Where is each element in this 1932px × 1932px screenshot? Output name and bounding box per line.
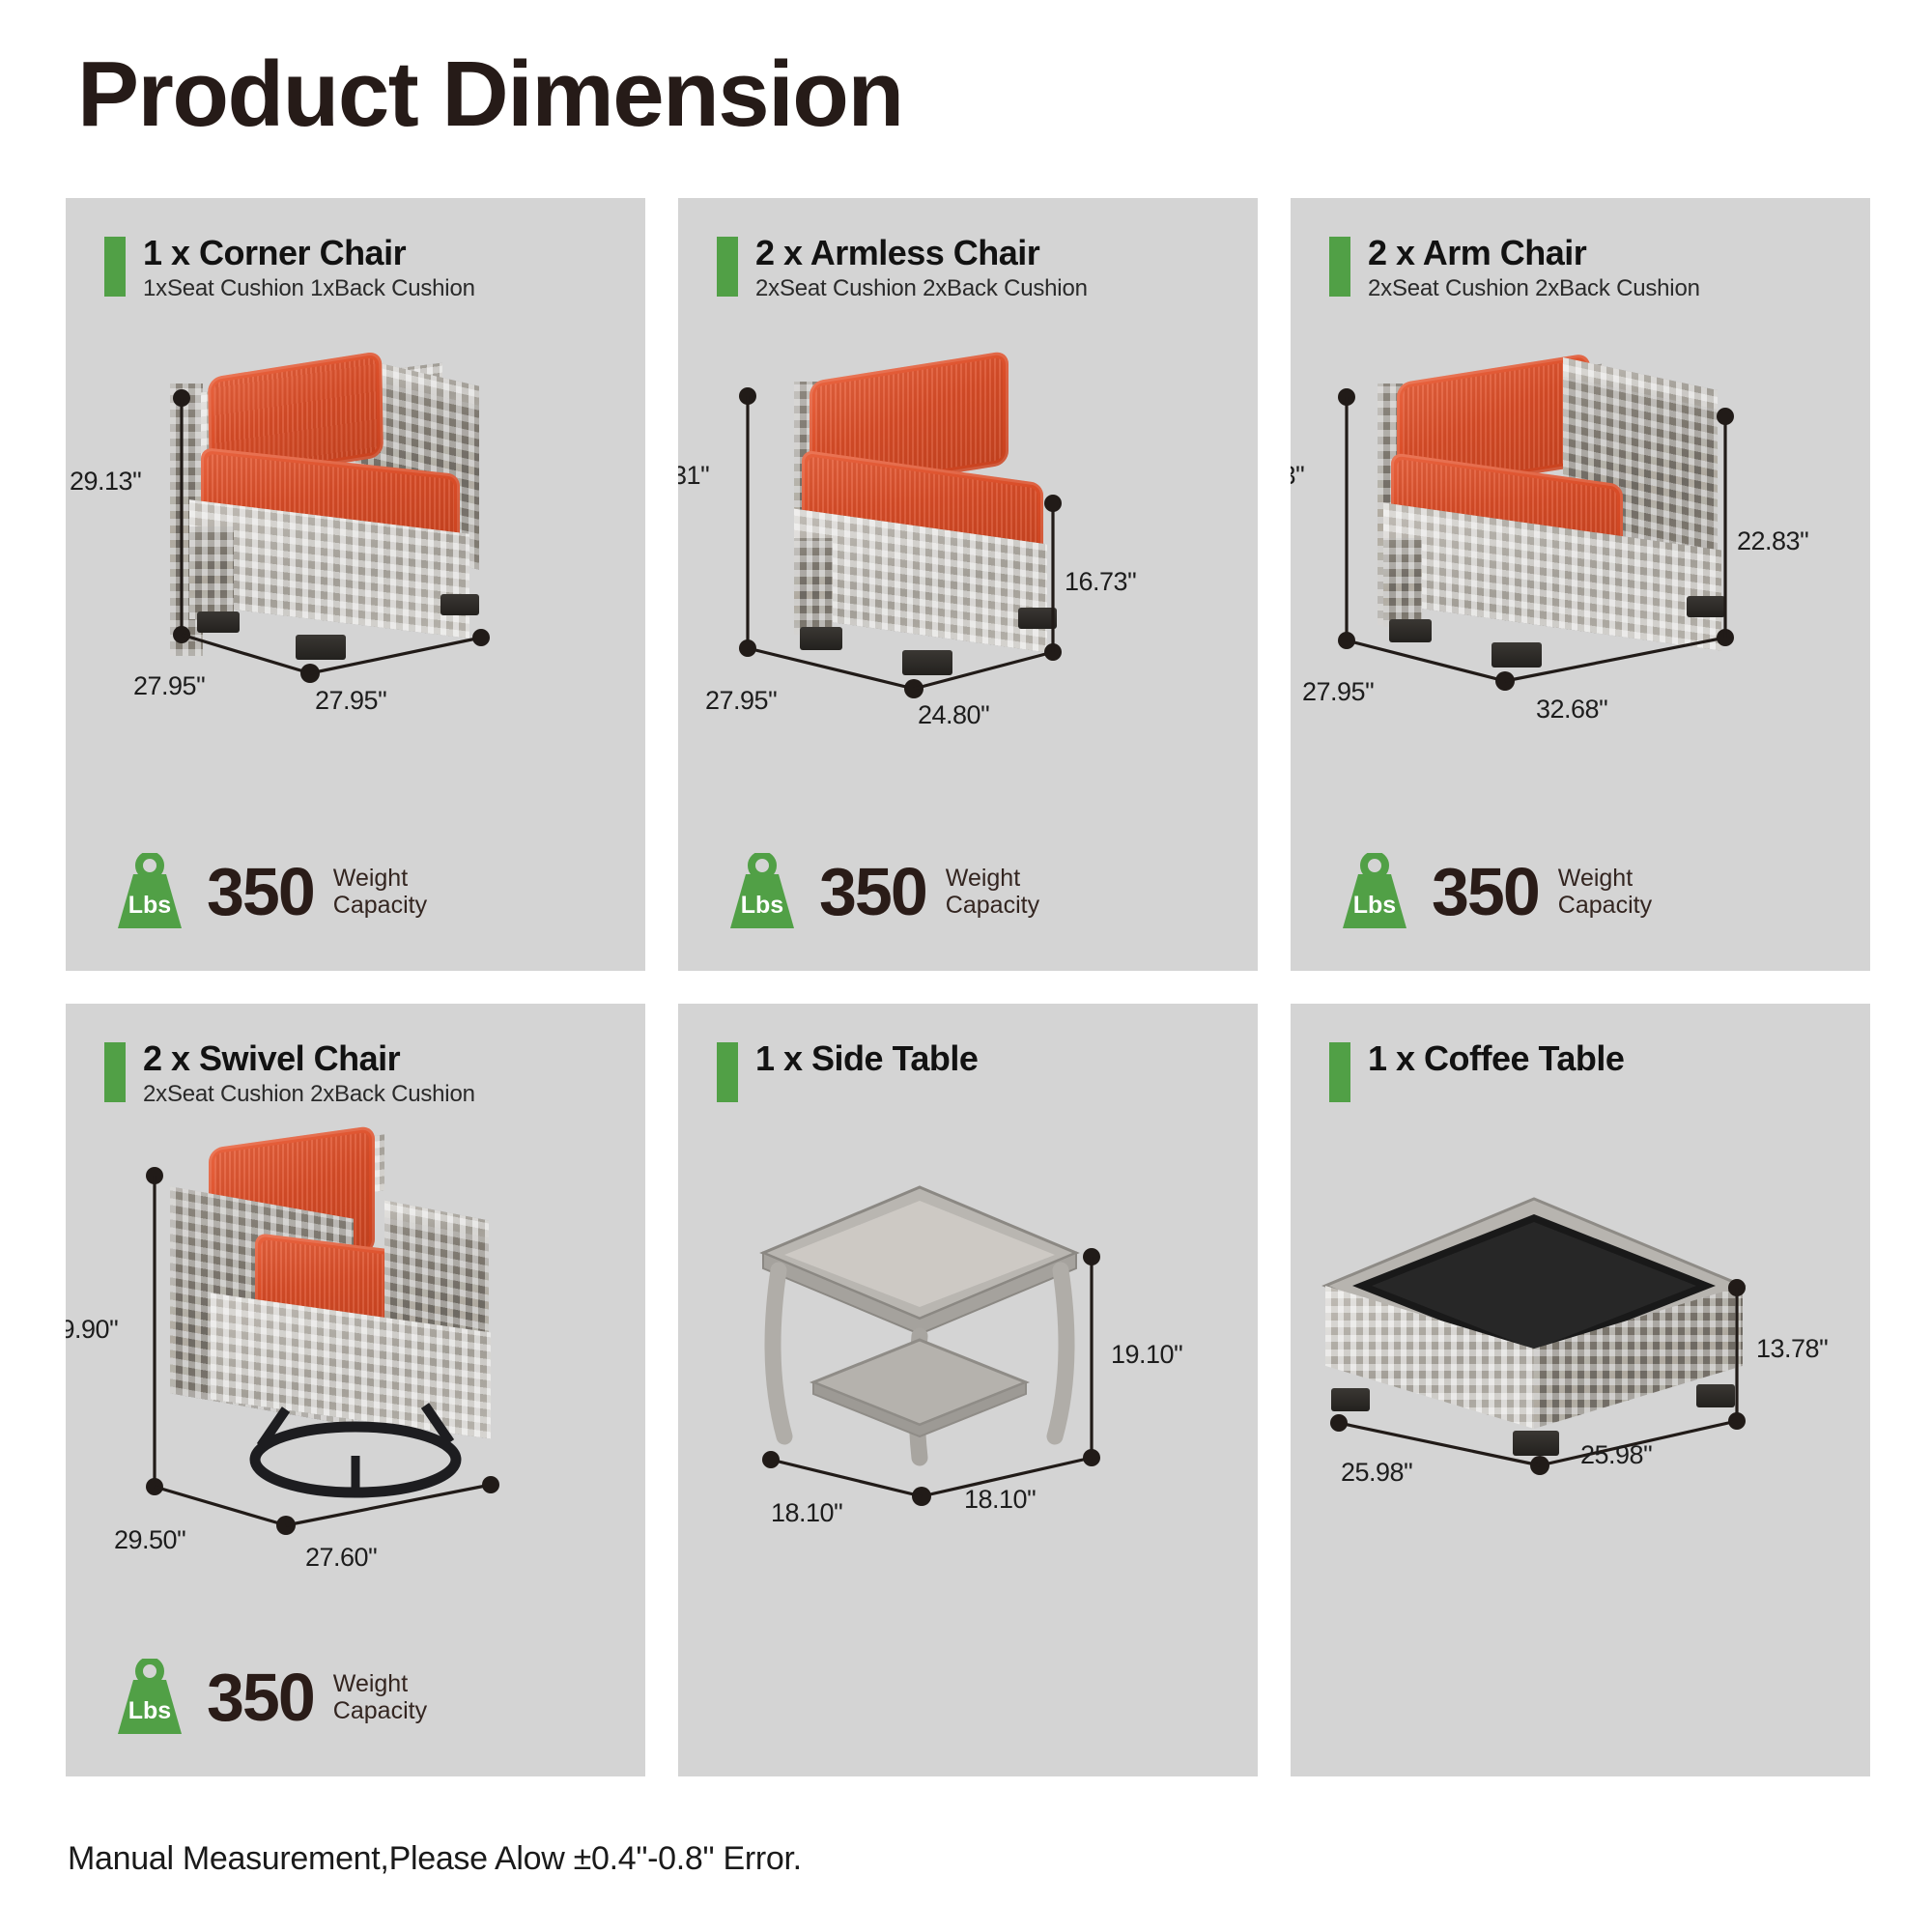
weight-label-line1: Weight	[1558, 865, 1652, 892]
infographic-page: Product Dimension 1 x Corner Chair 1xSea…	[0, 0, 1932, 1932]
weight-value: 350	[207, 1663, 314, 1731]
weight-capacity-badge: Lbs 350 Weight Capacity	[112, 1659, 427, 1736]
dimension-height: 19.10"	[1111, 1340, 1182, 1370]
weight-label-line2: Capacity	[333, 892, 427, 919]
dimension-right: 32.68"	[1536, 695, 1607, 724]
dimension-left: 29.50"	[114, 1525, 185, 1555]
dimension-side: 22.83"	[1737, 526, 1808, 556]
dimension-side: 16.73"	[1065, 567, 1136, 597]
weight-value: 350	[819, 858, 926, 925]
card-armless-chair: 2 x Armless Chair 2xSeat Cushion 2xBack …	[678, 198, 1258, 971]
dimension-left: 27.95"	[1302, 677, 1374, 707]
dimension-lines	[678, 1004, 1258, 1776]
dimension-left: 25.98"	[1341, 1458, 1412, 1488]
weight-icon: Lbs	[112, 1659, 187, 1736]
card-arm-chair: 2 x Arm Chair 2xSeat Cushion 2xBack Cush…	[1291, 198, 1870, 971]
weight-capacity-badge: Lbs 350 Weight Capacity	[1337, 853, 1652, 930]
weight-icon: Lbs	[724, 853, 800, 930]
product-card-grid: 1 x Corner Chair 1xSeat Cushion 1xBack C…	[66, 198, 1870, 1776]
weight-value: 350	[1432, 858, 1539, 925]
weight-label-line1: Weight	[333, 1670, 427, 1697]
dimension-height: 13.78"	[1756, 1334, 1828, 1364]
dimension-lines	[1291, 1004, 1870, 1776]
weight-capacity-badge: Lbs 350 Weight Capacity	[724, 853, 1039, 930]
dimension-height: 29.31"	[678, 461, 709, 491]
page-title: Product Dimension	[77, 46, 903, 144]
dimension-right: 25.98"	[1580, 1440, 1652, 1470]
card-coffee-table: 1 x Coffee Table	[1291, 1004, 1870, 1776]
dimension-right: 18.10"	[964, 1485, 1036, 1515]
weight-capacity-badge: Lbs 350 Weight Capacity	[112, 853, 427, 930]
weight-label-line2: Capacity	[946, 892, 1039, 919]
weight-icon: Lbs	[112, 853, 187, 930]
card-corner-chair: 1 x Corner Chair 1xSeat Cushion 1xBack C…	[66, 198, 645, 971]
weight-label-line2: Capacity	[333, 1697, 427, 1724]
svg-text:Lbs: Lbs	[128, 1697, 171, 1724]
dimension-height: 29.90"	[66, 1315, 118, 1345]
footer-note: Manual Measurement,Please Alow ±0.4"-0.8…	[68, 1840, 802, 1878]
weight-label-line1: Weight	[946, 865, 1039, 892]
card-swivel-chair: 2 x Swivel Chair 2xSeat Cushion 2xBack C…	[66, 1004, 645, 1776]
dimension-left: 27.95"	[705, 686, 777, 716]
svg-text:Lbs: Lbs	[741, 892, 783, 919]
svg-text:Lbs: Lbs	[128, 892, 171, 919]
weight-value: 350	[207, 858, 314, 925]
weight-icon: Lbs	[1337, 853, 1412, 930]
card-side-table: 1 x Side Table	[678, 1004, 1258, 1776]
dimension-height: 29.13"	[1291, 461, 1304, 491]
svg-text:Lbs: Lbs	[1353, 892, 1396, 919]
weight-label-line1: Weight	[333, 865, 427, 892]
dimension-left: 18.10"	[771, 1498, 842, 1528]
dimension-right: 24.80"	[918, 700, 989, 730]
dimension-left: 27.95"	[133, 671, 205, 701]
dimension-right: 27.95"	[315, 686, 386, 716]
dimension-height: 29.13"	[70, 467, 141, 497]
weight-label-line2: Capacity	[1558, 892, 1652, 919]
dimension-right: 27.60"	[305, 1543, 377, 1573]
